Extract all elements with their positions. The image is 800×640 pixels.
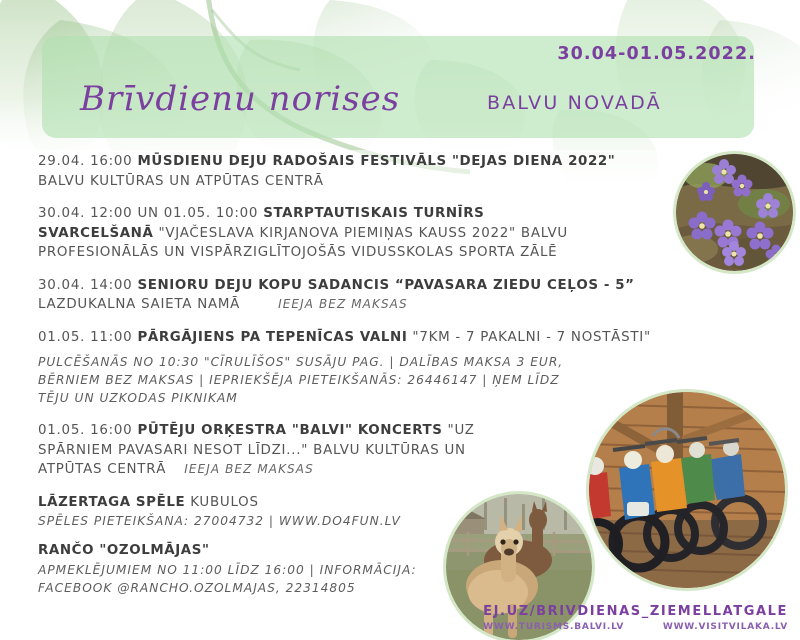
footer-secondary-links: WWW.TURISMS.BALVI.LV WWW.VISITVILAKA.LV xyxy=(483,622,788,632)
event-note: IEEJA BEZ MAKSAS xyxy=(278,297,408,311)
event-name: PŪTĒJU ORĶESTRA "BALVI" KONCERTS xyxy=(137,423,442,438)
event-datetime: 29.04. 16:00 xyxy=(38,154,137,169)
event-name: LĀZERTAGA SPĒLE xyxy=(38,495,185,510)
event-item-ranco-ozolmajas: RANČO "OZOLMĀJAS" APMEKLĒJUMIEM NO 11:00… xyxy=(38,541,698,597)
event-detail-line: BĒRNIEM BEZ MAKSAS | IEPRIEKŠĒJA PIETEIK… xyxy=(38,371,698,389)
event-detail-line: APMEKLĒJUMIEM NO 11:00 LĪDZ 16:00 | INFO… xyxy=(38,561,698,579)
event-detail-line: PULCĒŠANĀS NO 10:30 "CĪRULĪŠOS" SUSĀJU P… xyxy=(38,353,698,371)
event-venue: ATPŪTAS CENTRĀ xyxy=(38,462,166,477)
event-item-svarcelsana: 30.04. 12:00 UN 01.05. 10:00 STARPTAUTIS… xyxy=(38,204,698,263)
event-datetime: 01.05. 11:00 xyxy=(38,330,137,345)
header-date-range: 30.04-01.05.2022. xyxy=(557,44,756,64)
event-subtitle: "UZ xyxy=(443,423,475,438)
event-note: IEEJA BEZ MAKSAS xyxy=(184,462,314,476)
event-headline: RANČO "OZOLMĀJAS" xyxy=(38,541,698,561)
photo-bikes xyxy=(589,392,785,588)
event-headline-cont: SVARCELŠANĀ "VJAČESLAVA KIRJANOVA PIEMIŅ… xyxy=(38,224,698,244)
event-headline: 29.04. 16:00 MŪSDIENU DEJU RADOŠAIS FEST… xyxy=(38,152,698,172)
event-datetime: 30.04. 12:00 UN 01.05. 10:00 xyxy=(38,206,263,221)
event-headline: 01.05. 11:00 PĀRGĀJIENS PA TEPENĪCAS VAL… xyxy=(38,328,698,348)
event-headline: 01.05. 16:00 PŪTĒJU ORĶESTRA "BALVI" KON… xyxy=(38,421,698,441)
event-headline: 30.04. 14:00 SENIORU DEJU KOPU SADANCIS … xyxy=(38,276,698,296)
event-detail-line: FACEBOOK @RANCHO.OZOLMAJAS, 22314805 xyxy=(38,579,698,597)
photo-flowers xyxy=(676,154,793,271)
event-subtitle: "7KM - 7 PAKALNI - 7 NOSTĀSTI" xyxy=(407,330,650,345)
event-name: RANČO "OZOLMĀJAS" xyxy=(38,543,210,558)
event-venue-row: LAZDUKALNA SAIETA NAMĀIEEJA BEZ MAKSAS xyxy=(38,295,698,315)
event-venue: BALVU KULTŪRAS UN ATPŪTAS CENTRĀ xyxy=(38,172,698,192)
event-datetime: 30.04. 14:00 xyxy=(38,278,137,293)
footer-link-turisms-balvi[interactable]: WWW.TURISMS.BALVI.LV xyxy=(483,622,624,632)
poster-canvas: 30.04-01.05.2022. Brīvdienu norises BALV… xyxy=(0,0,800,640)
footer-link-visitvilaka[interactable]: WWW.VISITVILAKA.LV xyxy=(663,622,788,632)
event-name: SENIORU DEJU KOPU SADANCIS “PAVASARA ZIE… xyxy=(137,278,634,293)
event-name: STARPTAUTISKAIS TURNĪRS xyxy=(263,206,484,221)
event-name: PĀRGĀJIENS PA TEPENĪCAS VALNI xyxy=(137,330,407,345)
page-subtitle: BALVU NOVADĀ xyxy=(487,92,662,114)
event-item-dejas-diena: 29.04. 16:00 MŪSDIENU DEJU RADOŠAIS FEST… xyxy=(38,152,698,191)
event-name: MŪSDIENU DEJU RADOŠAIS FESTIVĀLS "DEJAS … xyxy=(137,154,615,169)
event-list: 29.04. 16:00 MŪSDIENU DEJU RADOŠAIS FEST… xyxy=(38,152,698,610)
event-venue: KUBULOS xyxy=(185,495,259,510)
event-subtitle: "VJAČESLAVA KIRJANOVA PIEMIŅAS KAUSS 202… xyxy=(153,226,568,241)
event-venue: PROFESIONĀLĀS UN VISPĀRZIGLĪTOJOŠĀS VIDU… xyxy=(38,243,698,263)
event-datetime: 01.05. 16:00 xyxy=(38,423,137,438)
event-name-cont: SVARCELŠANĀ xyxy=(38,226,153,241)
event-item-pargajiens: 01.05. 11:00 PĀRGĀJIENS PA TEPENĪCAS VAL… xyxy=(38,328,698,408)
event-headline: 30.04. 12:00 UN 01.05. 10:00 STARPTAUTIS… xyxy=(38,204,698,224)
footer-main-link[interactable]: EJ.UZ/BRIVDIENAS_ZIEMELLATGALE xyxy=(483,604,788,619)
event-detail-line: TĒJU UN UZKODAS PIKNIKAM xyxy=(38,389,698,407)
footer-links: EJ.UZ/BRIVDIENAS_ZIEMELLATGALE WWW.TURIS… xyxy=(483,604,788,632)
event-venue: LAZDUKALNA SAIETA NAMĀ xyxy=(38,297,240,312)
event-item-senioru-sadancis: 30.04. 14:00 SENIORU DEJU KOPU SADANCIS … xyxy=(38,276,698,315)
page-title: Brīvdienu norises xyxy=(80,82,400,116)
